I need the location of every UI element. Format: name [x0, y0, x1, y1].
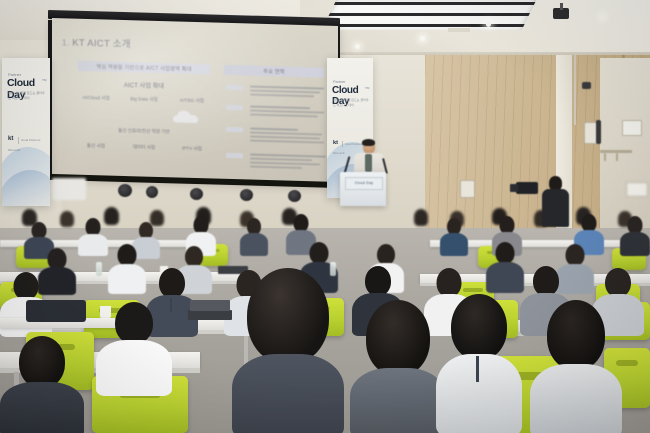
- attendee: [620, 216, 650, 254]
- banner-left-tm: TM: [42, 78, 46, 82]
- attendee-front: [350, 300, 446, 433]
- downlight-icon: [420, 36, 425, 41]
- screen-glare: [52, 18, 338, 184]
- skylight: [322, 0, 539, 30]
- wall-sign: [622, 120, 642, 136]
- seminar-room-photo: 1. KT AICT 소개 핵심 역량을 기반으로 AICT 사업영역 확대 A…: [0, 0, 650, 433]
- banner-podium-subtitle: 파트너와 함께 만드는 클라우드 비즈니스 데이: [333, 98, 369, 107]
- downlight-icon: [355, 44, 360, 49]
- banner-left-subtitle: 파트너와 함께 만드는 클라우드 비즈니스 데이: [8, 91, 46, 100]
- attendee: [440, 218, 468, 254]
- laptop-lid: [190, 300, 230, 311]
- banner-podium-logo: kt: [333, 140, 338, 146]
- attendee-foreground: [232, 268, 344, 433]
- attendee-front: [96, 302, 172, 392]
- laptop-bag: [26, 300, 86, 322]
- projector-mount-arm: [560, 3, 563, 10]
- attendee-front: [436, 294, 522, 433]
- downlight-icon: [486, 22, 491, 27]
- lectern-logo-text: Cloud Day: [346, 181, 382, 185]
- videographer-torso: [542, 189, 569, 227]
- banner-podium-logo-sub2: Microsoft: [333, 151, 344, 155]
- videographer: [540, 176, 570, 228]
- videographer-head: [549, 176, 562, 190]
- wall-camera-icon: [582, 82, 591, 89]
- wall-bracket: [596, 120, 601, 144]
- attendee-shoulders: [232, 354, 344, 433]
- banner-podium-pretext: Partner: [333, 80, 345, 84]
- wall-rail-drop: [616, 153, 618, 161]
- ceiling-vent: [448, 28, 470, 32]
- downlight-icon: [600, 14, 605, 19]
- video-camera-icon: [516, 182, 538, 194]
- attendee: [486, 242, 524, 292]
- attendee: [240, 218, 268, 254]
- banner-left-logo: kt: [8, 136, 13, 142]
- wall-rail-drop: [604, 153, 606, 161]
- attendee-front: [530, 300, 622, 433]
- attendee: [108, 244, 146, 292]
- banner-left-logo-sub2: Microsoft: [8, 148, 20, 152]
- attendee-head: [247, 268, 329, 364]
- projection-screen: 1. KT AICT 소개 핵심 역량을 기반으로 AICT 사업영역 확대 A…: [52, 18, 338, 184]
- lectern-logo-panel: Cloud Day: [345, 177, 383, 190]
- water-bottle: [96, 262, 102, 276]
- presenter-hair: [362, 139, 375, 146]
- banner-podium-tm: TM: [365, 86, 369, 90]
- laptop: [188, 310, 232, 320]
- presenter-shirt: [365, 154, 372, 172]
- hanging-wire: [574, 55, 576, 125]
- attendee: [78, 218, 108, 254]
- attendee-front: [0, 336, 84, 433]
- camera-lens-hood: [510, 184, 518, 192]
- banner-left: Partner Cloud Day TM 파트너와 함께 만드는 클라우드 비즈…: [2, 58, 50, 206]
- banner-left-logo-sub: cloud Partners: [21, 138, 40, 142]
